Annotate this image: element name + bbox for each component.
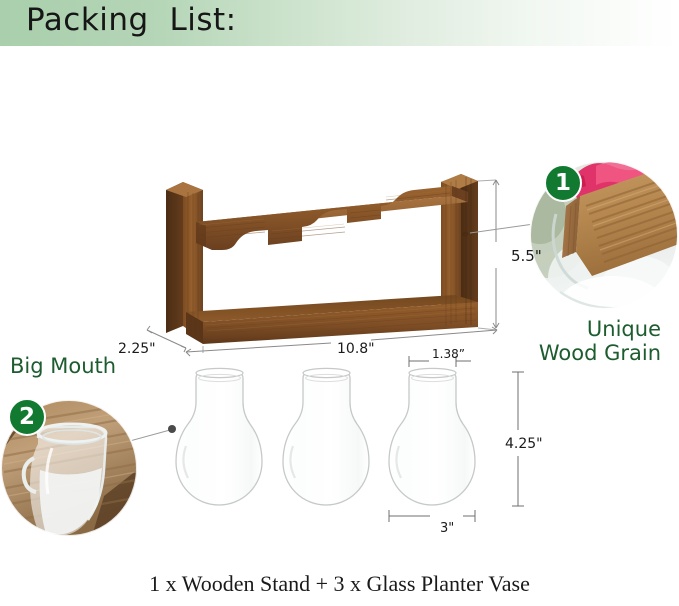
dimension-stand-depth: 2.25" bbox=[118, 341, 156, 357]
footer-caption: 1 x Wooden Stand + 3 x Glass Planter Vas… bbox=[0, 571, 679, 597]
callout-1-caption-line2: Wood Grain bbox=[539, 342, 661, 366]
callout-1-caption-line1: Unique bbox=[539, 318, 661, 342]
numbered-badge-1-icon: 1 bbox=[544, 164, 582, 202]
dimension-stand-height: 5.5" bbox=[511, 247, 542, 265]
callout-2-leader-line bbox=[126, 425, 176, 442]
callout-1-caption: Unique Wood Grain bbox=[539, 318, 661, 365]
callout-1-leader-line bbox=[470, 224, 534, 233]
wooden-stand-illustration bbox=[166, 174, 478, 344]
glass-vases-group bbox=[176, 368, 475, 505]
dimension-vase-width: 3" bbox=[440, 521, 454, 536]
numbered-badge-2-icon: 2 bbox=[8, 398, 46, 436]
glass-vase-2 bbox=[283, 368, 369, 505]
callout-2-caption: Big Mouth bbox=[10, 355, 116, 379]
glass-vase-3 bbox=[389, 368, 475, 505]
packing-list-illustration bbox=[0, 0, 679, 606]
dimension-vase-mouth: 1.38” bbox=[432, 347, 465, 361]
dimension-stand-width: 10.8" bbox=[337, 341, 375, 357]
glass-vase-1 bbox=[176, 368, 262, 505]
dimension-vase-height: 4.25" bbox=[505, 436, 543, 452]
